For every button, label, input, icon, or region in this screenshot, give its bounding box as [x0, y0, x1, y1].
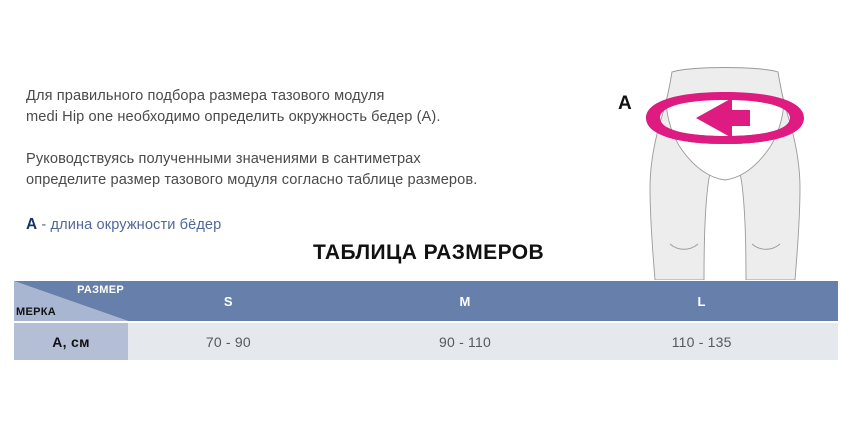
size-table-header-row: РАЗМЕР МЕРКА S M L [14, 281, 838, 321]
legend-description: - длина окружности бёдер [37, 217, 221, 233]
cell-a-l: 110 - 135 [601, 323, 838, 360]
legend-key: А [26, 216, 37, 233]
corner-label-size: РАЗМЕР [77, 284, 124, 296]
column-header-m: M [365, 281, 602, 321]
intro-paragraph-1: Для правильного подбора размера тазового… [26, 86, 596, 128]
size-table: РАЗМЕР МЕРКА S M L А, см 70 - 90 90 - 11… [14, 281, 838, 360]
intro-text-block: Для правильного подбора размера тазового… [26, 86, 596, 235]
table-row: А, см 70 - 90 90 - 110 110 - 135 [14, 323, 838, 360]
column-header-l: L [601, 281, 838, 321]
cell-a-s: 70 - 90 [128, 323, 365, 360]
size-guide-page: Для правильного подбора размера тазового… [0, 0, 857, 428]
measurement-marker-a: A [618, 93, 632, 115]
legend-line: А - длина окружности бёдер [26, 215, 596, 235]
column-header-s: S [128, 281, 365, 321]
table-corner-cell: РАЗМЕР МЕРКА [14, 281, 128, 321]
row-header-a-cm: А, см [14, 323, 128, 360]
figure-svg [600, 48, 850, 280]
cell-a-m: 90 - 110 [365, 323, 602, 360]
hips-measurement-illustration: A [600, 48, 850, 280]
intro-paragraph-2: Руководствуясь полученными значениями в … [26, 149, 596, 191]
corner-label-measure: МЕРКА [16, 306, 56, 318]
